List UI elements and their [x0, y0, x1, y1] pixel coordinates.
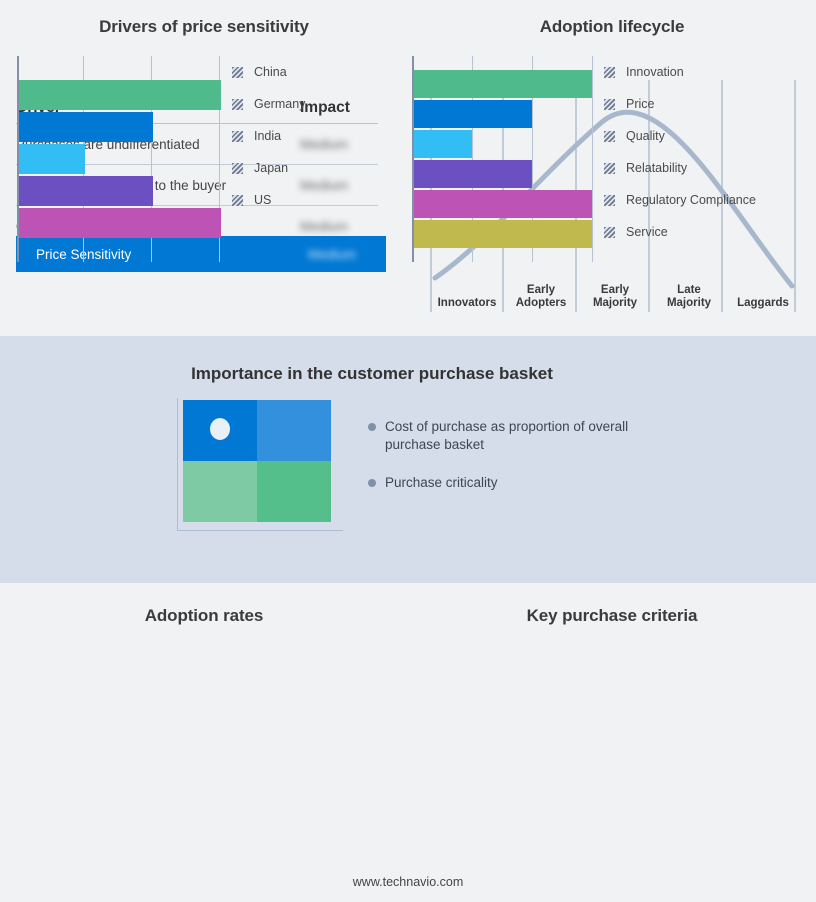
hatch-swatch-icon — [232, 195, 243, 206]
stage-line-2: Majority — [652, 297, 726, 310]
bullet-dot-icon — [368, 479, 376, 487]
adoption-rates-title: Adoption rates — [0, 606, 408, 626]
legend-label: Quality — [626, 129, 665, 143]
legend-label: Regulatory Compliance — [626, 193, 756, 207]
lifecycle-title: Adoption lifecycle — [408, 17, 816, 37]
quadrant-cell-top-right — [257, 400, 331, 461]
stage-line-2: Laggards — [726, 297, 800, 310]
lifecycle-stage-early-adopters: Early Adopters — [504, 266, 578, 312]
highlight-impact-value: Medium — [308, 247, 386, 262]
hatch-swatch-icon — [604, 131, 615, 142]
key-purchase-criteria-panel: Key purchase criteria — [408, 583, 816, 861]
legend-item: Cost of purchase as proportion of overal… — [368, 418, 668, 454]
quadrant-cell-bottom-right — [257, 461, 331, 522]
stage-line-1: Early — [504, 284, 578, 297]
bar-row — [19, 208, 222, 238]
legend-label: China — [254, 65, 287, 79]
purchase-basket-panel: Importance in the customer purchase bask… — [0, 336, 816, 583]
lifecycle-stage-laggards: Laggards — [726, 266, 800, 312]
legend-item: Quality — [604, 120, 756, 152]
legend-label: Purchase criticality — [385, 474, 498, 492]
quadrant-cell-top-left — [183, 400, 257, 461]
legend-item: China — [232, 56, 305, 88]
adoption-rates-panel: Adoption rates — [0, 583, 408, 861]
stage-line-2: Majority — [578, 297, 652, 310]
quadrant-chart — [183, 400, 331, 522]
bars-area — [414, 56, 592, 262]
legend-item: Price — [604, 88, 756, 120]
legend-label: Service — [626, 225, 668, 239]
lifecycle-stage-late-majority: Late Majority — [652, 266, 726, 312]
bar-india — [19, 144, 85, 174]
basket-legend: Cost of purchase as proportion of overal… — [368, 418, 668, 512]
hatch-swatch-icon — [232, 131, 243, 142]
bullet-dot-icon — [368, 423, 376, 431]
drivers-title: Drivers of price sensitivity — [0, 17, 408, 37]
hatch-swatch-icon — [604, 163, 615, 174]
bar-service — [414, 220, 592, 248]
key-purchase-criteria-title: Key purchase criteria — [408, 606, 816, 626]
legend-item: Regulatory Compliance — [604, 184, 756, 216]
stage-line-2: Adopters — [504, 297, 578, 310]
legend-item: Service — [604, 216, 756, 248]
impact-value: Medium — [300, 178, 378, 193]
basket-title: Importance in the customer purchase bask… — [0, 364, 744, 384]
bar-china — [19, 80, 221, 110]
quadrant-x-axis — [177, 530, 343, 531]
lifecycle-stage-labels: Innovators Early Adopters Early Majority… — [430, 266, 800, 312]
legend-item: India — [232, 120, 305, 152]
quadrant-marker-dot — [210, 418, 230, 440]
legend-label: Innovation — [626, 65, 684, 79]
bar-row — [19, 176, 222, 206]
legend-label: Cost of purchase as proportion of overal… — [385, 418, 647, 454]
stage-line-2: Innovators — [430, 297, 504, 310]
lifecycle-stage-innovators: Innovators — [430, 266, 504, 312]
hatch-swatch-icon — [232, 99, 243, 110]
key-purchase-criteria-legend: Innovation Price Quality Relatability Re… — [604, 56, 756, 248]
footer-url: www.technavio.com — [0, 875, 816, 889]
bar-quality — [414, 130, 472, 158]
impact-value: Medium — [300, 219, 378, 234]
bar-row — [414, 190, 592, 218]
bar-row — [414, 220, 592, 248]
stage-line-1: Late — [652, 284, 726, 297]
bar-row — [414, 70, 592, 98]
hatch-swatch-icon — [232, 67, 243, 78]
legend-label: India — [254, 129, 281, 143]
hatch-swatch-icon — [604, 195, 615, 206]
quadrant-cell-bottom-left — [183, 461, 257, 522]
bar-row — [414, 130, 592, 158]
legend-item: US — [232, 184, 305, 216]
impact-value: Medium — [300, 137, 378, 152]
gridline — [592, 56, 593, 262]
stage-line-1: Early — [578, 284, 652, 297]
column-header-impact: Impact — [300, 99, 378, 117]
bar-us — [19, 208, 221, 238]
infographic-page: Drivers of price sensitivity Driver Impa… — [0, 0, 816, 902]
legend-item: Innovation — [604, 56, 756, 88]
hatch-swatch-icon — [604, 99, 615, 110]
adoption-rates-chart — [17, 56, 222, 262]
quadrant-y-axis — [177, 398, 178, 530]
lifecycle-stage-early-majority: Early Majority — [578, 266, 652, 312]
legend-item: Germany — [232, 88, 305, 120]
legend-label: Price — [626, 97, 654, 111]
bars-area — [19, 56, 222, 262]
bar-row — [19, 144, 222, 174]
bar-innovation — [414, 70, 592, 98]
bar-japan — [19, 176, 153, 206]
bar-relatability — [414, 160, 532, 188]
legend-item: Purchase criticality — [368, 474, 668, 492]
bar-row — [19, 80, 222, 110]
bar-regulatory-compliance — [414, 190, 592, 218]
bar-row — [19, 112, 222, 142]
legend-label: Relatability — [626, 161, 687, 175]
key-purchase-criteria-chart — [412, 56, 592, 262]
bar-price — [414, 100, 532, 128]
legend-label: Germany — [254, 97, 305, 111]
bar-row — [414, 160, 592, 188]
bar-germany — [19, 112, 153, 142]
adoption-rates-legend: China Germany India Japan US — [232, 56, 305, 216]
bar-row — [414, 100, 592, 128]
legend-item: Japan — [232, 152, 305, 184]
hatch-swatch-icon — [604, 227, 615, 238]
legend-label: US — [254, 193, 271, 207]
hatch-swatch-icon — [232, 163, 243, 174]
hatch-swatch-icon — [604, 67, 615, 78]
legend-item: Relatability — [604, 152, 756, 184]
legend-label: Japan — [254, 161, 288, 175]
